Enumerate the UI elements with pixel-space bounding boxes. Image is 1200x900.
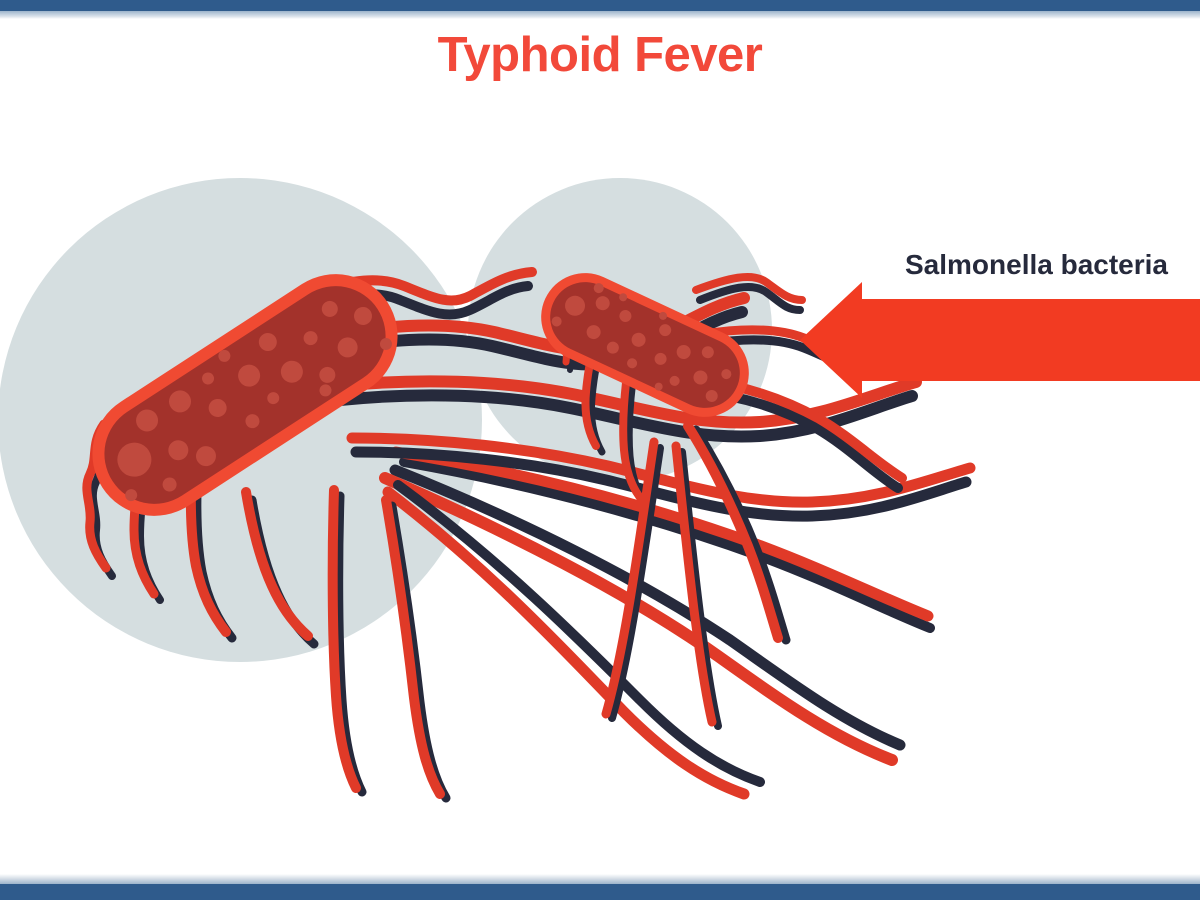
bottom-border-band bbox=[0, 884, 1200, 900]
poster-canvas: Typhoid Fever Salmonella bacteria bbox=[0, 0, 1200, 900]
callout-label: Salmonella bacteria bbox=[905, 249, 1168, 281]
callout-arrow bbox=[800, 282, 1200, 398]
salmonella-bacteria-illustration bbox=[0, 0, 1200, 900]
bottom-border-highlight bbox=[0, 874, 1200, 884]
page-title: Typhoid Fever bbox=[0, 27, 1200, 83]
